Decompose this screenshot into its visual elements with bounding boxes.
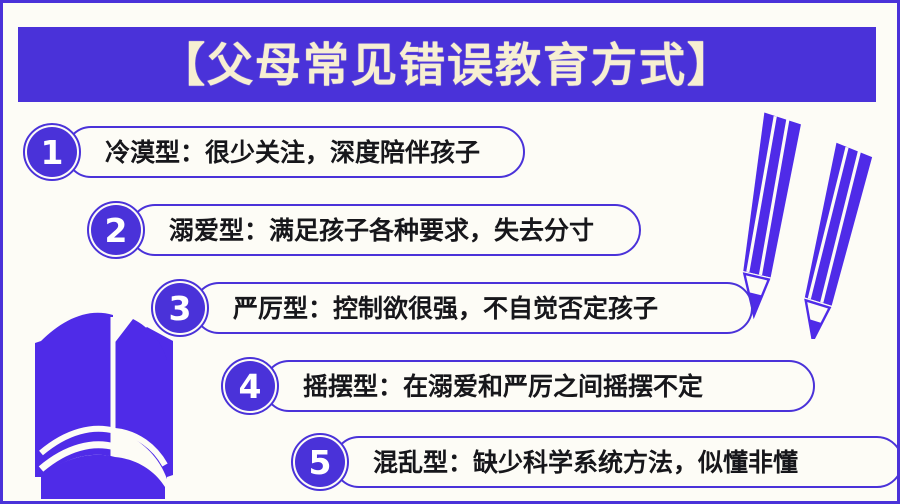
item-text: 摇摆型：在溺爱和严厉之间摇摆不定	[265, 374, 729, 399]
item-pill[interactable]: 严厉型：控制欲很强，不自觉否定孩子	[193, 282, 753, 334]
badge-circle: 1	[27, 127, 77, 177]
item-pill[interactable]: 混乱型：缺少科学系统方法，似懂非懂	[333, 436, 900, 488]
badge-number: 2	[105, 214, 128, 247]
badge-circle: 4	[225, 361, 275, 411]
list-item[interactable]: 3 严厉型：控制欲很强，不自觉否定孩子	[151, 277, 753, 339]
badge-circle: 2	[91, 205, 141, 255]
item-text: 冷漠型：很少关注，深度陪伴孩子	[67, 140, 506, 165]
badge-circle: 5	[295, 437, 345, 487]
badge-number: 1	[41, 136, 64, 169]
title-banner: 【父母常见错误教育方式】	[18, 27, 876, 102]
item-pill[interactable]: 摇摆型：在溺爱和严厉之间摇摆不定	[263, 360, 815, 412]
list-item[interactable]: 5 混乱型：缺少科学系统方法，似懂非懂	[291, 431, 900, 493]
item-number-badge: 1	[23, 123, 81, 181]
badge-number: 5	[309, 446, 332, 479]
page-title: 【父母常见错误教育方式】	[159, 42, 735, 88]
infographic-poster: 【父母常见错误教育方式】	[0, 0, 900, 504]
item-text: 严厉型：控制欲很强，不自觉否定孩子	[195, 296, 684, 321]
item-pill[interactable]: 冷漠型：很少关注，深度陪伴孩子	[65, 126, 525, 178]
badge-number: 3	[169, 292, 192, 325]
item-text: 混乱型：缺少科学系统方法，似懂非懂	[335, 450, 824, 475]
item-text: 溺爱型：满足孩子各种要求，失去分寸	[131, 218, 620, 243]
list-item[interactable]: 1 冷漠型：很少关注，深度陪伴孩子	[23, 121, 525, 183]
item-number-badge: 3	[151, 279, 209, 337]
item-number-badge: 2	[87, 201, 145, 259]
item-pill[interactable]: 溺爱型：满足孩子各种要求，失去分寸	[129, 204, 641, 256]
list-item[interactable]: 4 摇摆型：在溺爱和严厉之间摇摆不定	[221, 355, 815, 417]
list-item[interactable]: 2 溺爱型：满足孩子各种要求，失去分寸	[87, 199, 641, 261]
badge-number: 4	[239, 370, 262, 403]
item-number-badge: 4	[221, 357, 279, 415]
item-number-badge: 5	[291, 433, 349, 491]
badge-circle: 3	[155, 283, 205, 333]
